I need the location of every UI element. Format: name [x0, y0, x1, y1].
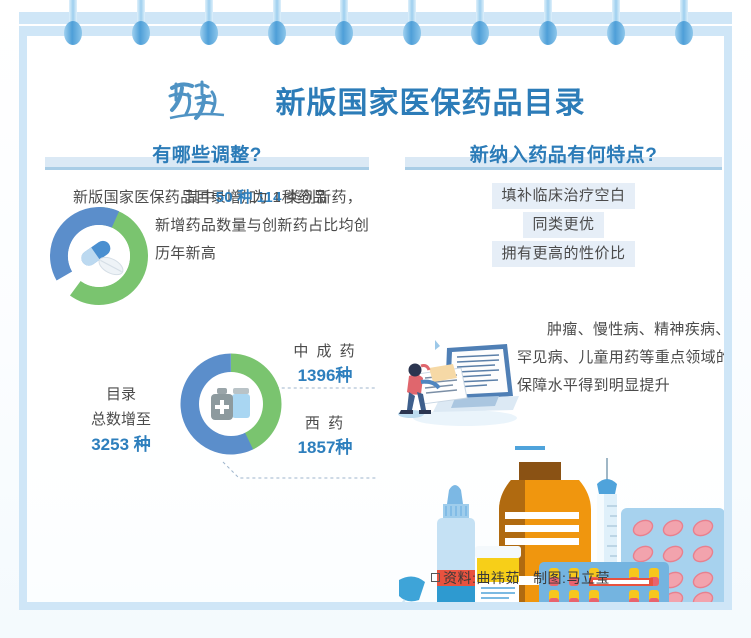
two-column-body: 有哪些调整? 新版国家医保药品目录增加114种药品	[27, 140, 724, 602]
page-card-frame: 新版国家医保药品目录 有哪些调整? 新版国家医保药品目录增加114种药品	[19, 26, 732, 610]
page-title: 新版国家医保药品目录	[276, 78, 586, 122]
callout-western-medicine: 西 药 1857种	[273, 412, 377, 461]
person-documents-laptop-illustration-icon	[395, 320, 523, 432]
feature-item: 填补临床治疗空白	[492, 183, 634, 209]
innovation-text-1: 其中	[185, 189, 216, 206]
square-bullet-icon	[431, 573, 440, 582]
feature-list: 填补临床治疗空白 同类更优 拥有更高的性价比	[387, 183, 724, 270]
infographic-page: 新版国家医保药品目录 有哪些调整? 新版国家医保药品目录增加114种药品	[0, 0, 751, 638]
left-column: 有哪些调整? 新版国家医保药品目录增加114种药品	[27, 140, 387, 602]
shudu-calligraphy-logo-icon	[166, 74, 262, 126]
total-label-line2: 总数增至	[91, 411, 151, 428]
callout-western-name: 西 药	[305, 415, 345, 432]
right-section-header: 新纳入药品有何特点?	[405, 140, 722, 172]
feature-item: 同类更优	[523, 212, 603, 238]
left-section-header: 有哪些调整?	[45, 140, 369, 172]
callout-tcm: 中 成 药 1396种	[273, 340, 377, 389]
coverage-paragraph: 肿瘤、慢性病、精神疾病、罕见病、儿童用药等重点领域的保障水平得到明显提升	[517, 316, 724, 400]
innovation-paragraph: 其中50 种为 1 类创新药，新增药品数量与创新药占比均创历年新高	[155, 184, 377, 268]
blue-eyedrop-cap	[399, 576, 425, 602]
right-section-header-label: 新纳入药品有何特点?	[470, 140, 658, 167]
left-section-header-label: 有哪些调整?	[152, 140, 262, 167]
innovation-donut-chart	[47, 204, 151, 308]
stack-of-documents	[417, 364, 467, 404]
credit-source: 资料:曲祎茹	[443, 570, 520, 586]
feature-item: 拥有更高的性价比	[492, 241, 634, 267]
total-label-value: 3253 种	[91, 435, 151, 454]
catalog-composition-donut-chart	[177, 350, 285, 458]
callout-western-value: 1857种	[298, 438, 353, 457]
page-card-inner: 新版国家医保药品目录 有哪些调整? 新版国家医保药品目录增加114种药品	[27, 36, 724, 602]
innovation-highlight: 50 种	[216, 189, 253, 206]
total-label-line1: 目录	[106, 386, 136, 403]
masthead: 新版国家医保药品目录	[27, 72, 724, 128]
callout-tcm-name: 中 成 药	[293, 343, 356, 360]
right-column: 新纳入药品有何特点? 填补临床治疗空白 同类更优 拥有更高的性价比	[387, 140, 724, 602]
callout-tcm-value: 1396种	[298, 366, 353, 385]
leader-line-western	[223, 462, 377, 478]
total-catalog-block: 目录 总数增至 3253 种 中 成 药 1396种 西 药 1857种	[27, 330, 387, 510]
footer-credit: 资料:曲祎茹 制图:马立莹	[431, 568, 610, 588]
total-count-label: 目录 总数增至 3253 种	[67, 382, 175, 458]
credit-graphic: 制图:马立莹	[533, 570, 610, 586]
innovation-block: 其中50 种为 1 类创新药，新增药品数量与创新药占比均创历年新高	[27, 186, 387, 326]
